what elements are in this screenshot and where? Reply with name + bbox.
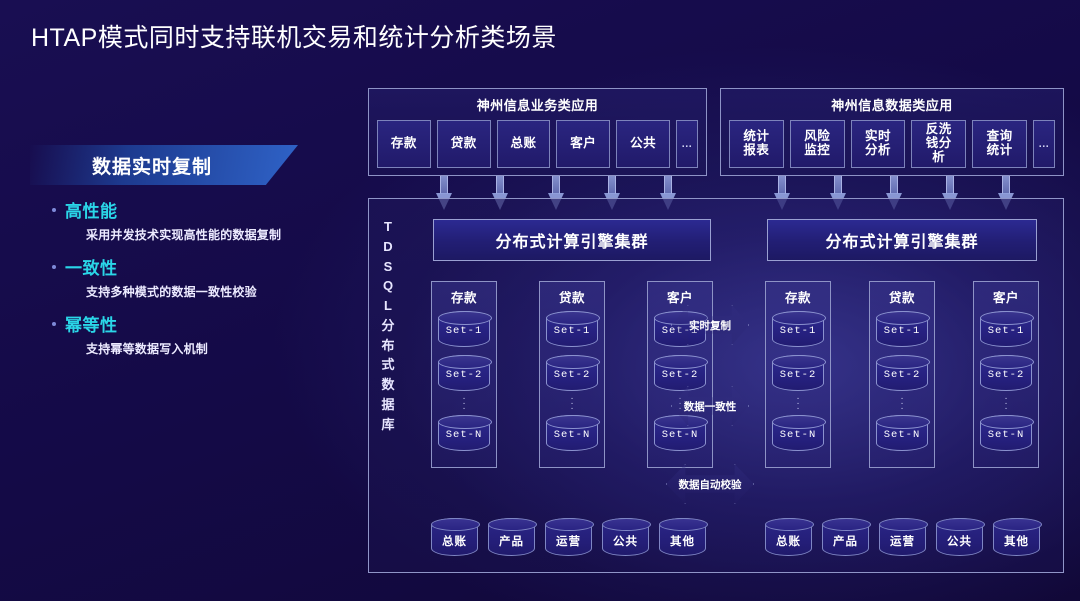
app-chip-label: 查询 统计: [987, 130, 1013, 158]
shard-column: 贷款 Set-1 Set-2 ··· Set-N: [869, 281, 935, 468]
shard-title: 贷款: [870, 287, 934, 306]
bullet-dot-icon: [52, 208, 56, 212]
set-cylinder-icon: Set-1: [438, 311, 490, 347]
app-chip[interactable]: 查询 统计: [972, 120, 1027, 168]
shard-title: 存款: [432, 287, 496, 306]
app-chip-row: 存款 贷款 总账 客户 公共 …: [369, 114, 706, 168]
db-cylinder-icon: 公共: [602, 518, 649, 556]
tdsql-vertical-label: T D S Q L 分 布 式 数 据 库: [377, 217, 399, 434]
db-cylinder-icon: 产品: [822, 518, 869, 556]
db-label: 产品: [489, 533, 534, 549]
feature-title: 高性能: [65, 197, 118, 222]
db-label: 其他: [994, 533, 1039, 549]
app-chip-more[interactable]: …: [1033, 120, 1055, 168]
app-chip[interactable]: 总账: [497, 120, 551, 168]
set-cylinder-icon: Set-N: [438, 415, 490, 451]
feature-description: 采用并发技术实现高性能的数据复制: [30, 226, 360, 243]
shard-title: 客户: [974, 287, 1038, 306]
vertical-ellipsis-icon: ···: [766, 396, 830, 411]
tdsql-char: 分: [377, 316, 399, 336]
feature-description: 支持多种模式的数据一致性校验: [30, 283, 360, 300]
set-label: Set-1: [981, 325, 1031, 337]
vertical-ellipsis-icon: ···: [540, 396, 604, 411]
feature-title: 幂等性: [65, 311, 118, 336]
set-cylinder-icon: Set-2: [876, 355, 928, 391]
set-cylinder-icon: Set-N: [546, 415, 598, 451]
tdsql-char: Q: [377, 276, 399, 296]
vertical-ellipsis-icon: ···: [432, 396, 496, 411]
app-chip-label: 风险 监控: [804, 130, 830, 158]
set-cylinder-icon: Set-N: [772, 415, 824, 451]
app-chip[interactable]: 贷款: [437, 120, 491, 168]
sync-arrow-realtime-replication: 实时复制: [671, 305, 749, 345]
db-cylinder-icon: 产品: [488, 518, 535, 556]
shard-title: 存款: [766, 287, 830, 306]
set-label: Set-N: [547, 429, 597, 441]
tdsql-char: 布: [377, 336, 399, 356]
set-cylinder-icon: Set-N: [876, 415, 928, 451]
app-panel-data: 神州信息数据类应用 统计 报表 风险 监控 实时 分析 反洗 钱分 析 查询 统…: [720, 88, 1064, 176]
app-chip-more-label: …: [681, 138, 693, 150]
set-cylinder-icon: Set-1: [876, 311, 928, 347]
db-cylinder-icon: 运营: [545, 518, 592, 556]
list-item: 一致性 支持多种模式的数据一致性校验: [30, 254, 360, 300]
db-label: 其他: [660, 533, 705, 549]
left-info-panel: 数据实时复制 高性能 采用并发技术实现高性能的数据复制 一致性 支持多种模式的数…: [30, 145, 360, 368]
bullet-dot-icon: [52, 265, 56, 269]
app-chip-more[interactable]: …: [676, 120, 698, 168]
set-cylinder-icon: Set-2: [980, 355, 1032, 391]
shard-column: 客户 Set-1 Set-2 ··· Set-N: [973, 281, 1039, 468]
app-chip-label: 公共: [630, 137, 656, 151]
set-label: Set-N: [773, 429, 823, 441]
shard-row: 存款 Set-1 Set-2 ··· Set-N 贷款 Set-1 Set-2 …: [751, 281, 1053, 468]
sync-arrow-auto-verification: 数据自动校验: [666, 464, 754, 504]
app-chip[interactable]: 存款: [377, 120, 431, 168]
app-chip-label: 存款: [391, 137, 417, 151]
tdsql-container: T D S Q L 分 布 式 数 据 库 分布式计算引擎集群 存款 Set-1…: [368, 198, 1064, 573]
db-cylinder-icon: 公共: [936, 518, 983, 556]
set-label: Set-2: [547, 369, 597, 381]
app-chip[interactable]: 公共: [616, 120, 670, 168]
set-label: Set-N: [877, 429, 927, 441]
db-label: 公共: [937, 533, 982, 549]
bullet-row: 幂等性: [30, 311, 360, 336]
sync-arrow-data-consistency: 数据一致性: [671, 386, 749, 426]
tdsql-char: 库: [377, 415, 399, 435]
set-label: Set-N: [655, 429, 705, 441]
bullet-dot-icon: [52, 322, 56, 326]
shard-column: 存款 Set-1 Set-2 ··· Set-N: [431, 281, 497, 468]
set-cylinder-icon: Set-2: [772, 355, 824, 391]
app-panel-title: 神州信息数据类应用: [721, 89, 1063, 114]
app-panel-title: 神州信息业务类应用: [369, 89, 706, 114]
list-item: 高性能 采用并发技术实现高性能的数据复制: [30, 197, 360, 243]
compute-engine-box: 分布式计算引擎集群: [767, 219, 1037, 261]
app-chip[interactable]: 客户: [556, 120, 610, 168]
set-label: Set-2: [773, 369, 823, 381]
app-chip-label: 实时 分析: [865, 130, 891, 158]
app-chip-label: 统计 报表: [743, 130, 769, 158]
compute-engine-box: 分布式计算引擎集群: [433, 219, 711, 261]
feature-description: 支持幂等数据写入机制: [30, 340, 360, 357]
vertical-ellipsis-icon: ···: [974, 396, 1038, 411]
app-chip-label: 贷款: [451, 137, 477, 151]
tdsql-char: 数: [377, 375, 399, 395]
set-cylinder-icon: Set-1: [546, 311, 598, 347]
architecture-diagram: 神州信息业务类应用 存款 贷款 总账 客户 公共 … 神州信息数据类应用 统计 …: [368, 88, 1064, 573]
page-title: HTAP模式同时支持联机交易和统计分析类场景: [31, 18, 557, 54]
tdsql-char: T: [377, 217, 399, 237]
db-label: 总账: [432, 533, 477, 549]
set-cylinder-icon: Set-2: [546, 355, 598, 391]
set-label: Set-2: [877, 369, 927, 381]
app-chip[interactable]: 实时 分析: [851, 120, 906, 168]
db-label: 运营: [880, 533, 925, 549]
section-banner-title: 数据实时复制: [30, 152, 298, 179]
shard-title: 客户: [648, 287, 712, 306]
set-label: Set-1: [877, 325, 927, 337]
app-chip-label: 客户: [570, 137, 596, 151]
set-label: Set-N: [439, 429, 489, 441]
shard-column: 贷款 Set-1 Set-2 ··· Set-N: [539, 281, 605, 468]
db-label: 运营: [546, 533, 591, 549]
db-cylinder-icon: 总账: [765, 518, 812, 556]
shard-title: 贷款: [540, 287, 604, 306]
bullet-row: 高性能: [30, 197, 360, 222]
app-chip[interactable]: 反洗 钱分 析: [911, 120, 966, 168]
set-label: Set-N: [981, 429, 1031, 441]
tdsql-char: D: [377, 237, 399, 257]
db-cylinder-icon: 总账: [431, 518, 478, 556]
db-label: 产品: [823, 533, 868, 549]
tdsql-char: 式: [377, 355, 399, 375]
feature-list: 高性能 采用并发技术实现高性能的数据复制 一致性 支持多种模式的数据一致性校验 …: [30, 197, 360, 357]
db-label: 公共: [603, 533, 648, 549]
feature-title: 一致性: [65, 254, 118, 279]
db-cylinder-icon: 运营: [879, 518, 926, 556]
sync-arrow-label: 数据一致性: [684, 399, 737, 414]
section-banner: 数据实时复制: [30, 145, 298, 185]
app-chip[interactable]: 统计 报表: [729, 120, 784, 168]
set-label: Set-1: [773, 325, 823, 337]
set-cylinder-icon: Set-2: [438, 355, 490, 391]
db-cylinder-icon: 其他: [659, 518, 706, 556]
list-item: 幂等性 支持幂等数据写入机制: [30, 311, 360, 357]
vertical-ellipsis-icon: ···: [870, 396, 934, 411]
set-label: Set-2: [981, 369, 1031, 381]
app-chip-label: 反洗 钱分 析: [926, 123, 952, 164]
bottom-db-row-left: 总账 产品 运营 公共 其他: [431, 518, 706, 556]
bottom-db-row-right: 总账 产品 运营 公共 其他: [765, 518, 1040, 556]
set-cylinder-icon: Set-N: [980, 415, 1032, 451]
app-chip[interactable]: 风险 监控: [790, 120, 845, 168]
set-cylinder-icon: Set-1: [772, 311, 824, 347]
app-chip-row: 统计 报表 风险 监控 实时 分析 反洗 钱分 析 查询 统计 …: [721, 114, 1063, 168]
set-label: Set-2: [655, 369, 705, 381]
app-panel-business: 神州信息业务类应用 存款 贷款 总账 客户 公共 …: [368, 88, 707, 176]
db-label: 总账: [766, 533, 811, 549]
sync-arrow-label: 实时复制: [689, 318, 731, 333]
set-label: Set-1: [547, 325, 597, 337]
bullet-row: 一致性: [30, 254, 360, 279]
db-cylinder-icon: 其他: [993, 518, 1040, 556]
app-chip-more-label: …: [1038, 138, 1050, 150]
shard-column: 存款 Set-1 Set-2 ··· Set-N: [765, 281, 831, 468]
sync-arrow-label: 数据自动校验: [679, 477, 742, 492]
app-chip-label: 总账: [510, 137, 536, 151]
set-cylinder-icon: Set-1: [980, 311, 1032, 347]
tdsql-char: S: [377, 257, 399, 277]
set-label: Set-1: [439, 325, 489, 337]
tdsql-char: L: [377, 296, 399, 316]
tdsql-char: 据: [377, 395, 399, 415]
set-label: Set-2: [439, 369, 489, 381]
